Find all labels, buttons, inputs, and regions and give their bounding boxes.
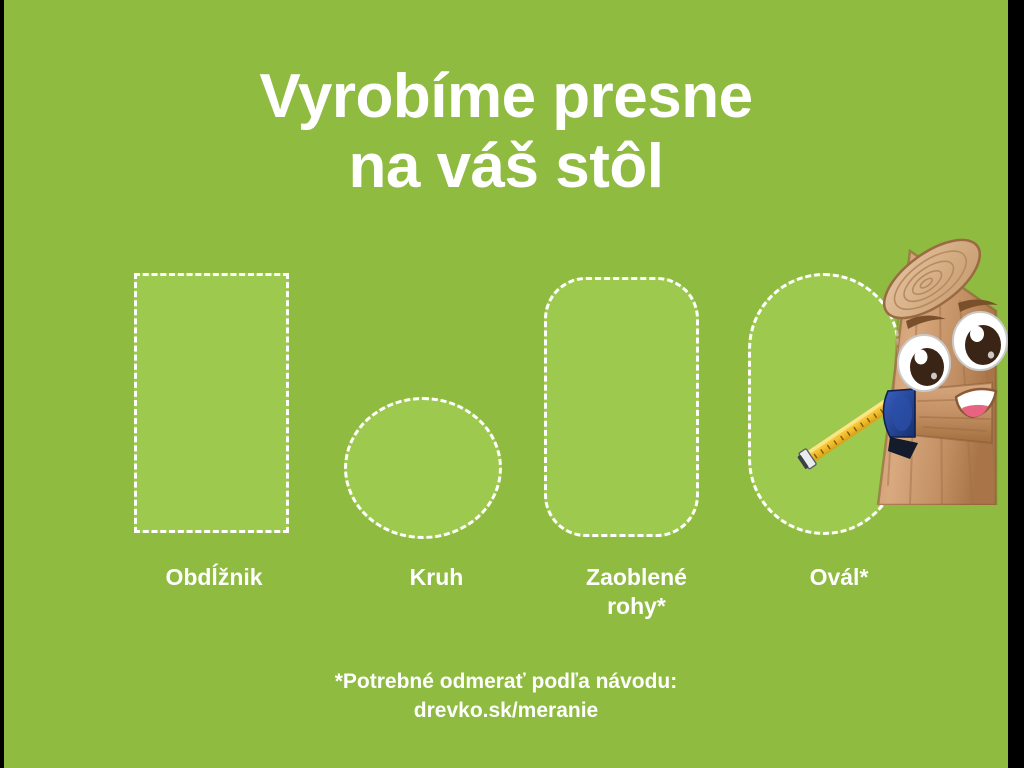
rounded-rectangle-outline-icon: [544, 277, 699, 537]
shape-label-circle: Kruh: [329, 563, 544, 592]
footnote-text: *Potrebné odmerať podľa návodu: drevko.s…: [4, 668, 1008, 726]
shape-option-rounded-corners[interactable]: Zaoblené rohy*: [524, 255, 749, 555]
shape-label-oval: Ovál*: [724, 563, 954, 592]
mascot-wooden-log-icon: [760, 215, 1010, 505]
shape-option-circle[interactable]: Kruh: [329, 255, 544, 555]
shape-option-rectangle[interactable]: Obdĺžnik: [99, 255, 329, 555]
tape-housing: [883, 389, 918, 459]
circle-outline-icon: [344, 397, 502, 539]
letterbox-bar-right: [1008, 0, 1024, 768]
shape-label-rounded-corners: Zaoblené rohy*: [524, 563, 749, 621]
page-title: Vyrobíme presne na váš stôl: [4, 62, 1008, 202]
rectangle-outline-icon: [134, 273, 289, 533]
poster-canvas: Vyrobíme presne na váš stôl Obdĺžnik Kru…: [0, 0, 1024, 768]
letterbox-bar-left: [0, 0, 4, 768]
shape-label-rectangle: Obdĺžnik: [99, 563, 329, 592]
